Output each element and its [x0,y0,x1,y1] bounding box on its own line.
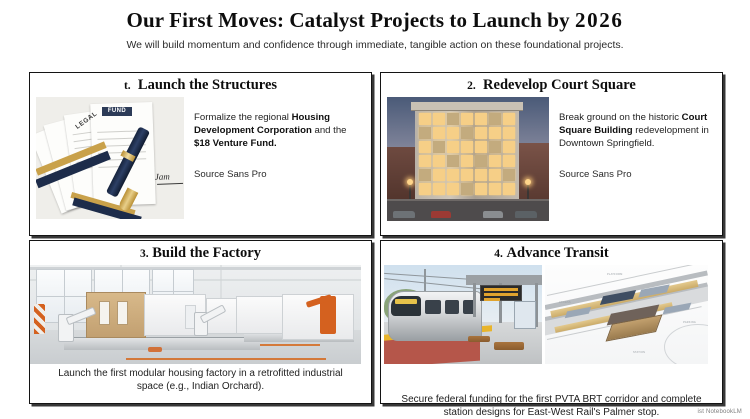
card-3-title: 3. Build the Factory [30,241,371,265]
card-1-title: t. Launch the Structures [30,73,371,97]
page-title-text: Our First Moves: Catalyst Projects to La… [127,8,575,32]
card-1-copy: Formalize the regional Housing Developme… [194,97,365,181]
page-header: Our First Moves: Catalyst Projects to La… [0,0,750,52]
page-subtitle: We will build momentum and confidence th… [0,39,750,52]
card-1-mid: and the [312,125,347,136]
brt-platform-image [384,265,542,364]
card-1-credit: Source Sans Pro [194,168,365,181]
card-3-number: 3. [140,248,149,260]
card-4-body: PLATFORM ACCESS STATION PARKING Secure f… [381,265,722,364]
page-title: Our First Moves: Catalyst Projects to La… [0,8,750,32]
card-3-title-text: Build the Factory [152,245,261,261]
project-card-1[interactable]: t. Launch the Structures Jam FUND [29,72,372,236]
station-sign [480,285,522,301]
card-2-copy: Break ground on the historic Court Squar… [559,97,716,181]
card-2-number: 2. [467,80,476,92]
legal-documents-image: Jam FUND LEGAL [36,97,184,219]
page-title-year: 2026 [575,8,623,32]
card-2-body: Break ground on the historic Court Squar… [381,97,722,221]
card-1-title-text: Launch the Structures [138,77,277,93]
card-2-lead: Break ground on the historic [559,112,682,123]
station-site-plan-image: PLATFORM ACCESS STATION PARKING [545,265,708,364]
watermark: ist NotebookLM [698,409,743,415]
project-card-2[interactable]: 2. Redevelop Court Square [380,72,723,236]
card-4-caption: Secure federal funding for the first PVT… [381,390,722,419]
card-1-lead: Formalize the regional [194,112,292,123]
court-square-building-image [387,97,549,221]
card-1-body: Jam FUND LEGAL Formalize the regional Ho… [30,97,371,219]
card-4-number: 4. [494,248,503,260]
modular-factory-image [30,265,361,364]
fund-label: FUND [102,107,132,116]
project-card-3[interactable]: 3. Build the Factory [29,240,372,404]
card-2-title: 2. Redevelop Court Square [381,73,722,97]
project-card-4[interactable]: 4. Advance Transit [380,240,723,404]
card-4-title: 4. Advance Transit [381,241,722,265]
card-4-title-text: Advance Transit [507,245,609,261]
card-2-credit: Source Sans Pro [559,168,716,181]
projects-grid: t. Launch the Structures Jam FUND [29,72,723,404]
card-2-title-text: Redevelop Court Square [483,77,636,93]
card-1-bold-2: $18 Venture Fund. [194,138,277,149]
card-3-caption: Launch the first modular housing factory… [30,364,371,393]
card-1-number: t. [124,80,131,92]
card-3-body: Launch the first modular housing factory… [30,265,371,393]
